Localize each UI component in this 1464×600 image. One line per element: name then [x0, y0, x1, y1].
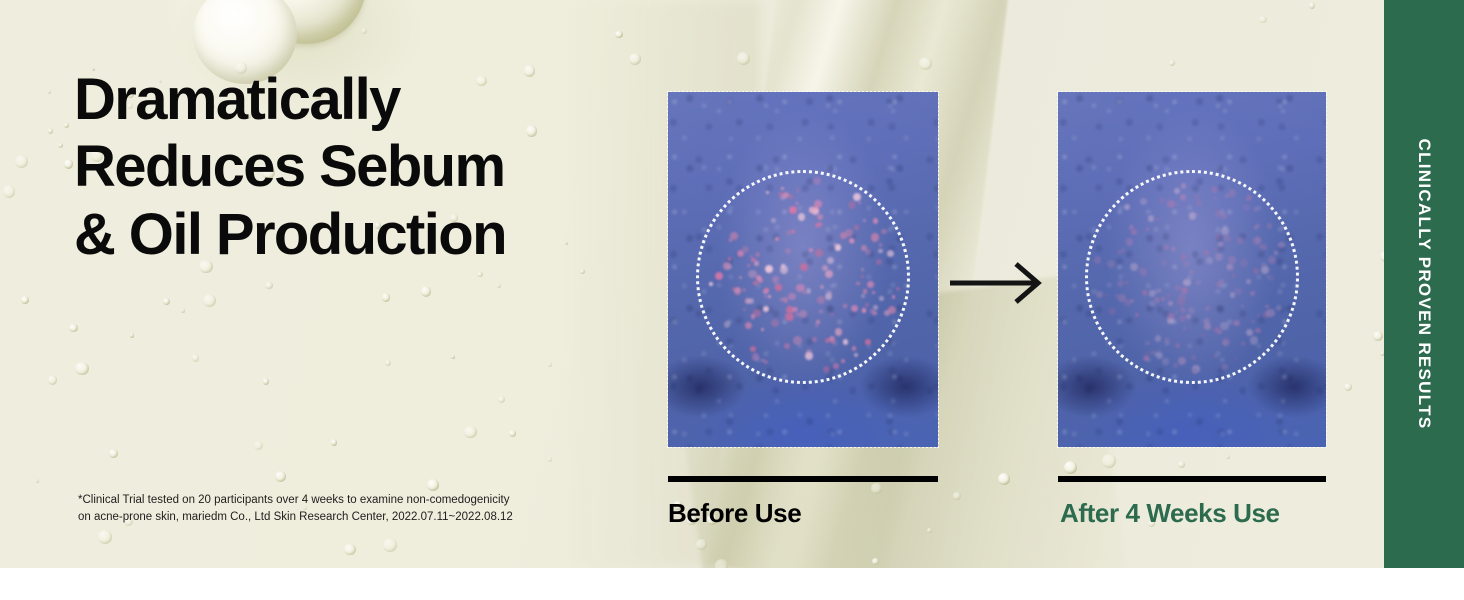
bubble [254, 441, 263, 450]
bubble [163, 298, 170, 305]
clinical-trial-footnote: *Clinical Trial tested on 20 participant… [78, 492, 618, 527]
uv-skin-photo-after [1058, 92, 1326, 447]
bubble [696, 539, 707, 550]
bubble [1169, 60, 1175, 66]
caption-rule-before [668, 476, 938, 482]
page-title: Dramatically Reduces Sebum & Oil Product… [74, 66, 694, 268]
measurement-circle-before [696, 170, 910, 384]
bubble [15, 155, 28, 168]
bubble [919, 57, 932, 70]
bubble [58, 143, 63, 148]
caption-after: After 4 Weeks Use [1060, 498, 1280, 529]
bubble [48, 90, 52, 94]
caption-before: Before Use [668, 498, 801, 529]
bubble [1102, 454, 1116, 468]
bubble [64, 159, 74, 169]
bubble [69, 324, 77, 332]
bubble [344, 544, 355, 555]
bubble [998, 473, 1010, 485]
bubble [275, 471, 286, 482]
bubble [421, 286, 432, 297]
bubble [1064, 461, 1077, 474]
bubble [464, 426, 477, 439]
uv-skin-photo-before [668, 92, 938, 447]
bubble [382, 293, 391, 302]
bubble [548, 362, 552, 366]
bubble [1226, 455, 1230, 459]
bubble [715, 559, 729, 568]
headline-line-3: & Oil Production [74, 201, 694, 268]
measurement-circle-after [1085, 170, 1299, 384]
bubble [953, 492, 961, 500]
bubble [48, 128, 53, 133]
bottom-white-strip [0, 568, 1464, 600]
bubble [615, 31, 622, 38]
bubble [477, 272, 483, 278]
bubble [109, 449, 118, 458]
bubble [383, 538, 397, 552]
bubble [75, 362, 89, 376]
bubble [331, 439, 338, 446]
bubble [98, 530, 111, 543]
bubble [427, 479, 439, 491]
arrow-right-icon [948, 262, 1048, 304]
bubble [130, 333, 134, 337]
bubble [21, 296, 29, 304]
bubble [451, 355, 455, 359]
bubble [1259, 16, 1267, 24]
bubble [1344, 383, 1352, 391]
bubble [1373, 331, 1383, 341]
bubble [1309, 2, 1315, 8]
bubble [498, 396, 505, 403]
bubble [181, 308, 185, 312]
bubble [580, 269, 585, 274]
headline-line-1: Dramatically [74, 66, 694, 133]
clinical-results-banner: Dramatically Reduces Sebum & Oil Product… [0, 0, 1464, 600]
bubble [871, 483, 881, 493]
bubble [263, 378, 270, 385]
bubble [509, 430, 516, 437]
footnote-line-1: *Clinical Trial tested on 20 participant… [78, 492, 618, 509]
bubble [385, 360, 391, 366]
footnote-line-2: on acne-prone skin, mariedm Co., Ltd Ski… [78, 509, 618, 526]
bubble [203, 294, 216, 307]
bubble [192, 354, 200, 362]
bubble [36, 479, 40, 483]
side-banner: CLINICALLY PROVEN RESULTS [1384, 0, 1464, 568]
headline-line-2: Reduces Sebum [74, 133, 694, 200]
bubble [64, 123, 69, 128]
bubble [497, 283, 501, 287]
bubble [361, 28, 367, 34]
bubble [3, 185, 15, 197]
bubble [548, 457, 553, 462]
bubble [1178, 461, 1185, 468]
bubble [265, 282, 273, 290]
caption-rule-after [1058, 476, 1326, 482]
bubble [48, 375, 57, 384]
side-banner-label: CLINICALLY PROVEN RESULTS [1414, 139, 1434, 430]
